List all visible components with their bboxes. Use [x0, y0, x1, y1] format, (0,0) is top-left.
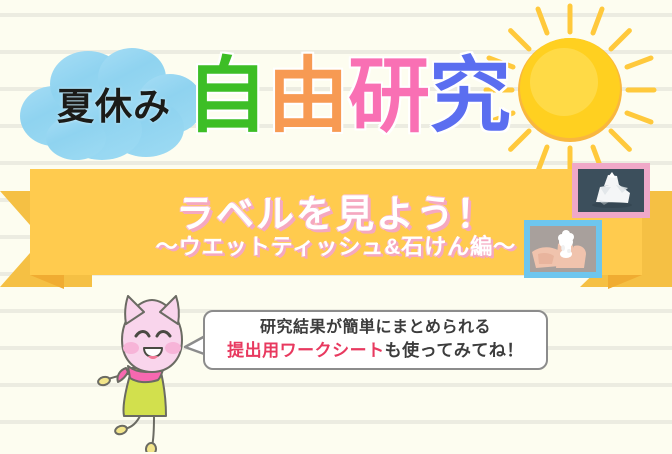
bubble-highlight: 提出用ワークシート: [227, 341, 385, 360]
title-char-4: 究: [429, 56, 510, 138]
title-char-3: 研: [348, 56, 429, 138]
cat-mascot: [96, 292, 208, 452]
poster-canvas: 夏休み 自 由 研 究 ラベルを見よう！ 〜ウエットティッシュ&石けん編〜: [0, 0, 672, 454]
photo-wet-tissue: [572, 163, 650, 218]
cloud-shape: 夏休み: [18, 42, 204, 164]
cloud-label: 夏休み: [18, 42, 204, 164]
title-char-2: 由: [267, 56, 348, 138]
title-char-1: 自: [186, 56, 267, 138]
bubble-line-2-rest: も使ってみてね！: [385, 341, 524, 360]
speech-bubble: 研究結果が簡単にまとめられる 提出用ワークシートも使ってみてね！: [203, 310, 548, 370]
bubble-line-2: 提出用ワークシートも使ってみてね！: [227, 340, 524, 361]
photo-soap-hand: [524, 220, 602, 278]
bubble-line-1: 研究結果が簡単にまとめられる: [260, 318, 491, 338]
page-title: 自 由 研 究: [186, 56, 510, 138]
